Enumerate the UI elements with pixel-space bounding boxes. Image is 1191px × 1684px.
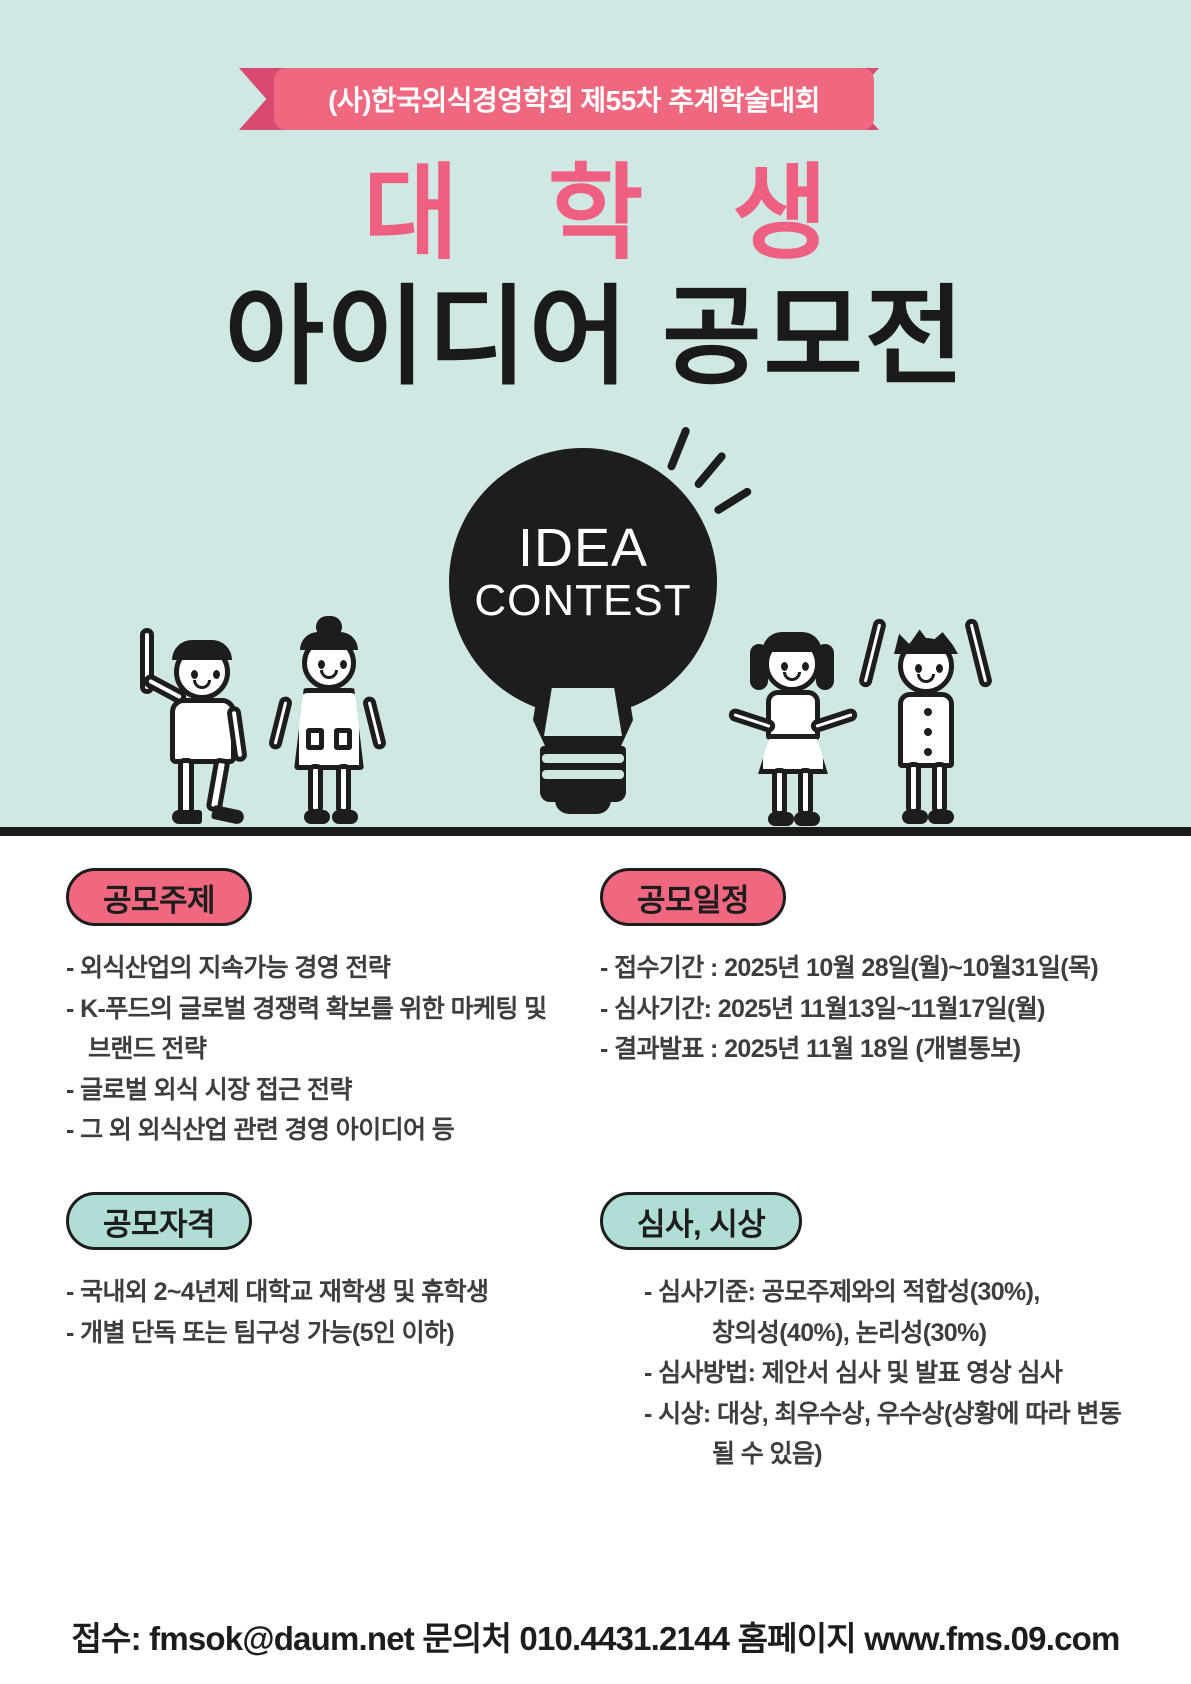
- person-dress: [294, 688, 364, 770]
- person-arm: [964, 617, 994, 688]
- person-eye: [213, 670, 220, 679]
- list-item: 될 수 있음): [600, 1434, 1160, 1475]
- hero-banner: (사)한국외식경영학회 제55차 추계학술대회 대 학 생 아이디어 공모전 I…: [0, 0, 1191, 836]
- section-qualification-pill: 공모자격: [66, 1192, 252, 1250]
- person-button: [924, 728, 932, 736]
- person-leg: [308, 764, 323, 814]
- bulb-caption-idea: IDEA: [449, 520, 717, 577]
- person-skirt: [758, 734, 828, 774]
- person-hair: [762, 632, 822, 652]
- person-shoe: [768, 812, 794, 826]
- lightbulb-screw-ring: [542, 770, 624, 779]
- list-item: - 심사기준: 공모주제와의 적합성(30%),: [600, 1272, 1160, 1313]
- footer-contact: 접수: fmsok@daum.net 문의처 010.4431.2144 홈페이…: [0, 1612, 1191, 1660]
- person-leg: [336, 764, 351, 814]
- person-pocket: [334, 728, 352, 750]
- person-button: [924, 748, 932, 756]
- list-item: - 국내외 2~4년제 대학교 재학생 및 휴학생: [66, 1272, 586, 1313]
- person-hair: [172, 640, 232, 660]
- lightbulb-neck-inner: [544, 688, 622, 736]
- illustration-student-cheering: [862, 612, 990, 832]
- person-shoe: [794, 812, 820, 826]
- illustration-student-pigtails: [728, 622, 856, 832]
- poster-title-line1: 대 학 생: [0, 162, 1191, 266]
- section-qualification: 공모자격 - 국내외 2~4년제 대학교 재학생 및 휴학생 - 개별 단독 또…: [66, 1192, 586, 1353]
- person-eye: [781, 662, 788, 671]
- section-schedule-pill: 공모일정: [600, 868, 786, 926]
- section-topic: 공모주제 - 외식산업의 지속가능 경영 전략 - K-푸드의 글로벌 경쟁력 …: [66, 868, 586, 1151]
- person-eye: [318, 660, 325, 669]
- person-pocket: [306, 728, 324, 750]
- list-item: 창의성(40%), 논리성(30%): [600, 1313, 1160, 1354]
- person-shoe: [332, 810, 358, 824]
- person-leg: [798, 768, 813, 816]
- person-torso: [170, 698, 236, 764]
- list-item: 브랜드 전략: [66, 1029, 586, 1070]
- illustration-student-waving: [140, 620, 260, 832]
- person-leg: [932, 762, 947, 814]
- person-leg: [178, 758, 194, 816]
- lightbulb-tip: [555, 798, 611, 814]
- person-arm: [362, 695, 388, 751]
- section-award-list: - 심사기준: 공모주제와의 적합성(30%), 창의성(40%), 논리성(3…: [600, 1272, 1160, 1475]
- organization-label: (사)한국외식경영학회 제55차 추계학술대회: [328, 79, 820, 119]
- person-leg: [772, 768, 787, 816]
- list-item: - 심사방법: 제안서 심사 및 발표 영상 심사: [600, 1353, 1160, 1394]
- person-hair: [300, 632, 358, 650]
- lightbulb-icon: IDEA CONTEST: [449, 448, 717, 818]
- person-shoe: [211, 805, 245, 825]
- person-arm: [268, 695, 294, 751]
- bulb-caption: IDEA CONTEST: [449, 520, 717, 625]
- person-torso: [766, 690, 820, 740]
- lightbulb-screw-ring: [542, 754, 624, 763]
- person-eye: [340, 660, 347, 669]
- person-eye: [915, 664, 922, 673]
- person-shoe: [172, 810, 202, 824]
- section-qualification-list: - 국내외 2~4년제 대학교 재학생 및 휴학생 - 개별 단독 또는 팀구성…: [66, 1272, 586, 1353]
- person-eye: [936, 664, 943, 673]
- list-item: - 결과발표 : 2025년 11월 18일 (개별통보): [600, 1029, 1160, 1070]
- illustration-student-dress: [272, 616, 384, 832]
- list-item: - 접수기간 : 2025년 10월 28일(월)~10월31일(목): [600, 948, 1160, 989]
- list-item: - 외식산업의 지속가능 경영 전략: [66, 948, 586, 989]
- person-shoe: [902, 810, 928, 824]
- person-eye: [191, 670, 198, 679]
- list-item: - K-푸드의 글로벌 경쟁력 확보를 위한 마케팅 및: [66, 989, 586, 1030]
- poster-root: (사)한국외식경영학회 제55차 추계학술대회 대 학 생 아이디어 공모전 I…: [0, 0, 1191, 1684]
- poster-title-line2: 아이디어 공모전: [0, 283, 1191, 391]
- light-ray-icon: [713, 486, 753, 515]
- list-item: - 심사기간: 2025년 11월13일~11월17일(월): [600, 989, 1160, 1030]
- section-schedule-list: - 접수기간 : 2025년 10월 28일(월)~10월31일(목) - 심사…: [600, 948, 1160, 1070]
- details-area: 공모주제 - 외식산업의 지속가능 경영 전략 - K-푸드의 글로벌 경쟁력 …: [0, 836, 1191, 1684]
- section-award: 심사, 시상 - 심사기준: 공모주제와의 적합성(30%), 창의성(40%)…: [600, 1192, 1160, 1475]
- person-eye: [802, 662, 809, 671]
- ribbon-body: (사)한국외식경영학회 제55차 추계학술대회: [274, 68, 874, 130]
- list-item: - 그 외 외식산업 관련 경영 아이디어 등: [66, 1110, 586, 1151]
- contact-line: 접수: fmsok@daum.net 문의처 010.4431.2144 홈페이…: [71, 1620, 1119, 1657]
- person-leg: [906, 762, 921, 814]
- ribbon: (사)한국외식경영학회 제55차 추계학술대회: [0, 68, 1191, 130]
- list-item: - 시상: 대상, 최우수상, 우수상(상황에 따라 변동: [600, 1394, 1160, 1435]
- section-award-pill: 심사, 시상: [600, 1192, 802, 1250]
- person-arm: [858, 617, 888, 688]
- bulb-caption-contest: CONTEST: [449, 577, 717, 625]
- list-item: - 글로벌 외식 시장 접근 전략: [66, 1070, 586, 1111]
- person-hair-spiky: [894, 628, 958, 654]
- section-topic-list: - 외식산업의 지속가능 경영 전략 - K-푸드의 글로벌 경쟁력 확보를 위…: [66, 948, 586, 1151]
- section-topic-pill: 공모주제: [66, 868, 252, 926]
- list-item: - 개별 단독 또는 팀구성 가능(5인 이하): [66, 1313, 586, 1354]
- person-shoe: [928, 810, 954, 824]
- person-shoe: [304, 810, 330, 824]
- section-schedule: 공모일정 - 접수기간 : 2025년 10월 28일(월)~10월31일(목)…: [600, 868, 1160, 1070]
- person-button: [924, 708, 932, 716]
- person-leg: [205, 757, 230, 813]
